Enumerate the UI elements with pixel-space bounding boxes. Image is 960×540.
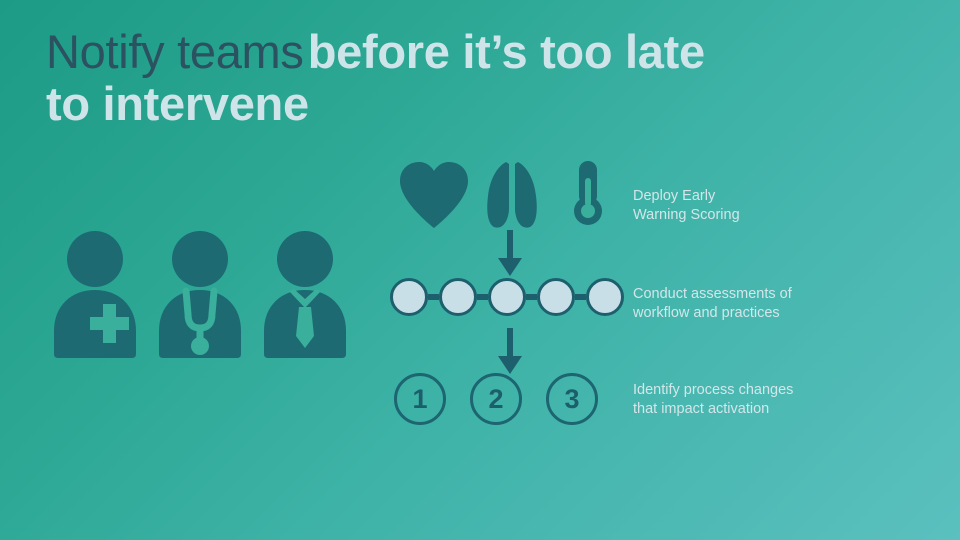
chain-dot-4 bbox=[537, 278, 575, 316]
title-segment-dark: Notify teams bbox=[46, 25, 304, 78]
process-flow-diagram: 1 2 3 bbox=[390, 158, 630, 448]
step-circle-2: 2 bbox=[470, 373, 522, 425]
chain-link-1 bbox=[428, 294, 439, 300]
chain-dot-1 bbox=[390, 278, 428, 316]
chain-link-2 bbox=[477, 294, 488, 300]
assessment-chain bbox=[390, 278, 624, 316]
person-administrator-icon bbox=[258, 228, 352, 358]
person-nurse-icon bbox=[48, 228, 142, 358]
caption-deploy-early-warning-scoring: Deploy Early Warning Scoring bbox=[633, 187, 883, 225]
slide-canvas: Notify teams before it’s too late to int… bbox=[0, 0, 960, 540]
chain-dot-3 bbox=[488, 278, 526, 316]
step-circle-3: 3 bbox=[546, 373, 598, 425]
title-segment-light-2: to intervene bbox=[46, 77, 309, 130]
numbered-steps: 1 2 3 bbox=[394, 373, 598, 425]
flow-row-vitals bbox=[390, 158, 630, 228]
chain-dot-2 bbox=[439, 278, 477, 316]
thermometer-icon bbox=[574, 161, 602, 225]
flow-row-numbered-steps: 1 2 3 bbox=[390, 373, 630, 431]
heart-icon bbox=[400, 162, 468, 228]
chain-link-4 bbox=[575, 294, 586, 300]
arrow-down-icon bbox=[498, 230, 522, 276]
flow-connector-arrow-1 bbox=[390, 230, 630, 278]
chain-dot-5 bbox=[586, 278, 624, 316]
flow-connector-arrow-2 bbox=[390, 328, 630, 376]
people-illustration-group bbox=[48, 228, 358, 358]
step-circle-1: 1 bbox=[394, 373, 446, 425]
page-title: Notify teams before it’s too late to int… bbox=[46, 26, 846, 129]
title-line-2: to intervene bbox=[46, 78, 846, 130]
title-line-1: Notify teams before it’s too late bbox=[46, 26, 846, 78]
arrow-down-icon bbox=[498, 328, 522, 374]
caption-conduct-assessments: Conduct assessments of workflow and prac… bbox=[633, 285, 883, 323]
chain-link-3 bbox=[526, 294, 537, 300]
lungs-icon bbox=[487, 162, 537, 228]
person-doctor-icon bbox=[153, 228, 247, 358]
caption-identify-process-changes: Identify process changes that impact act… bbox=[633, 381, 883, 419]
flow-row-assessment-chain bbox=[390, 278, 630, 326]
title-segment-light: before it’s too late bbox=[308, 25, 705, 78]
